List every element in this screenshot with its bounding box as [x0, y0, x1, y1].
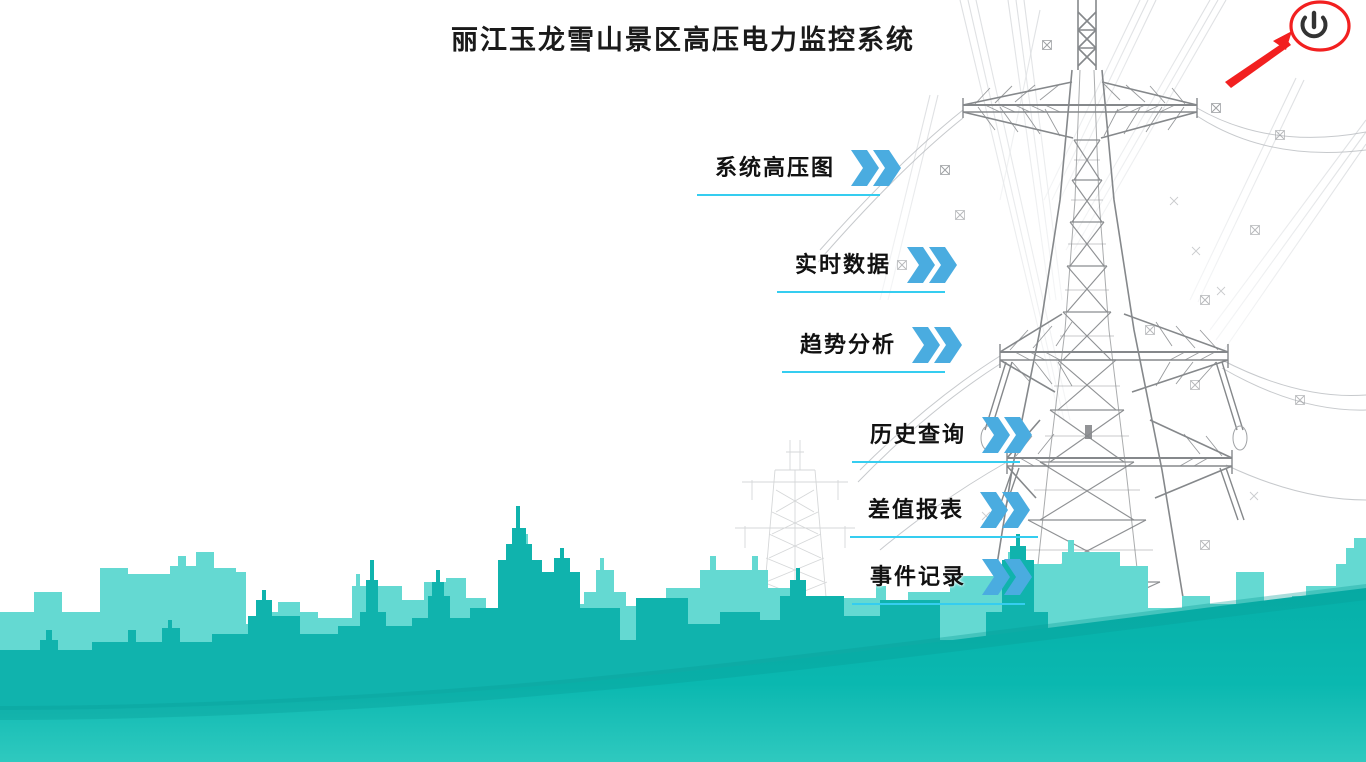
menu-item-label: 系统高压图 [715, 148, 835, 188]
menu-item-underline [850, 536, 1038, 538]
main-menu: 系统高压图 实时数据 趋势分析 [0, 0, 1366, 762]
double-chevron-right-icon [980, 557, 1034, 597]
menu-item-event-log[interactable]: 事件记录 [870, 557, 1034, 609]
menu-item-underline [782, 371, 945, 373]
menu-item-label: 实时数据 [795, 245, 891, 285]
menu-item-underline [852, 603, 1025, 605]
menu-item-trend-analysis[interactable]: 趋势分析 [800, 325, 964, 377]
menu-item-label: 差值报表 [868, 490, 964, 530]
menu-item-label: 事件记录 [870, 557, 966, 597]
double-chevron-right-icon [910, 325, 964, 365]
menu-item-underline [777, 291, 945, 293]
menu-item-label: 趋势分析 [800, 325, 896, 365]
double-chevron-right-icon [978, 490, 1032, 530]
menu-item-difference-report[interactable]: 差值报表 [868, 490, 1032, 542]
menu-item-system-diagram[interactable]: 系统高压图 [715, 148, 903, 200]
double-chevron-right-icon [980, 415, 1034, 455]
power-icon[interactable] [1293, 5, 1335, 47]
menu-item-realtime-data[interactable]: 实时数据 [795, 245, 959, 297]
page-title: 丽江玉龙雪山景区高压电力监控系统 [0, 18, 1366, 57]
menu-item-label: 历史查询 [870, 415, 966, 455]
power-button[interactable] [1293, 5, 1335, 47]
app-root: 丽江玉龙雪山景区高压电力监控系统 系统高压图 [0, 0, 1366, 762]
double-chevron-right-icon [905, 245, 959, 285]
menu-item-history-query[interactable]: 历史查询 [870, 415, 1034, 467]
menu-item-underline [697, 194, 880, 196]
double-chevron-right-icon [849, 148, 903, 188]
menu-item-underline [852, 461, 1020, 463]
